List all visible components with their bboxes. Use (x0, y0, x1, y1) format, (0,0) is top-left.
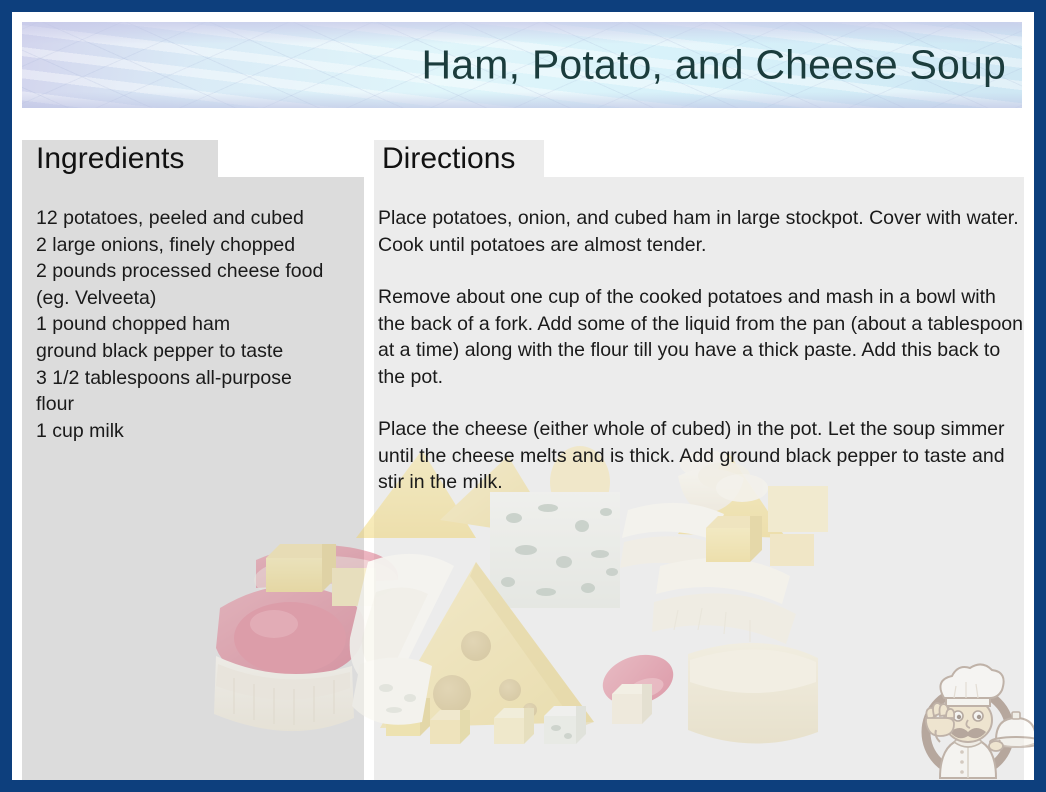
directions-heading-tab: Directions (374, 140, 544, 178)
banner-bottom-shade (22, 92, 1022, 108)
directions-paragraph: Place potatoes, onion, and cubed ham in … (378, 205, 1026, 258)
directions-text: Place potatoes, onion, and cubed ham in … (378, 205, 1026, 496)
directions-paragraph: Remove about one cup of the cooked potat… (378, 284, 1026, 390)
ingredients-heading-tab: Ingredients (22, 140, 218, 178)
recipe-slide: Ham, Potato, and Cheese Soup (0, 0, 1046, 792)
directions-paragraph: Place the cheese (either whole of cubed)… (378, 416, 1026, 496)
ingredients-heading: Ingredients (36, 144, 184, 174)
slide-canvas: Ham, Potato, and Cheese Soup (12, 12, 1034, 780)
title-banner: Ham, Potato, and Cheese Soup (22, 22, 1022, 108)
ingredients-list: 12 potatoes, peeled and cubed 2 large on… (36, 205, 356, 444)
page-title: Ham, Potato, and Cheese Soup (421, 43, 1006, 86)
directions-heading: Directions (382, 144, 515, 174)
